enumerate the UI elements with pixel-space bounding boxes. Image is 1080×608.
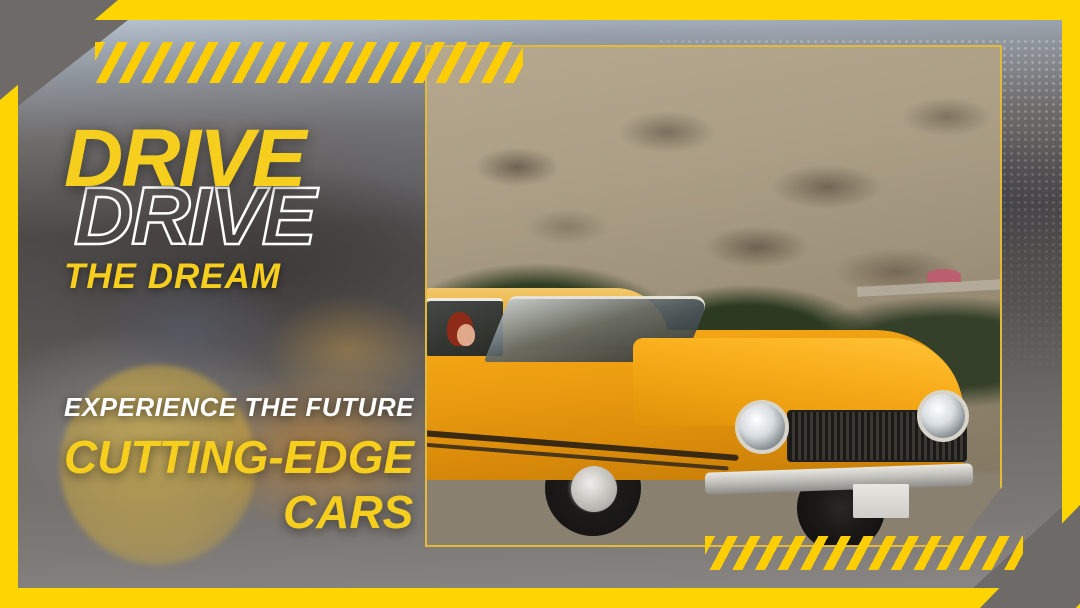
rear-wheel-rim (571, 466, 617, 512)
headline-block: DRIVE DRIVE (64, 118, 424, 248)
headlight-right (917, 390, 969, 442)
headlight-left (735, 400, 789, 454)
promo-banner: DRIVE DRIVE THE DREAM EXPERIENCE THE FUT… (0, 0, 1080, 608)
hero-photo (425, 45, 1002, 547)
driver-face (457, 324, 475, 346)
photo-scenery (427, 47, 1000, 545)
license-plate (853, 484, 909, 518)
roadside-tent (927, 269, 961, 282)
subheadline-text: THE DREAM (64, 258, 281, 296)
headline-text: DRIVE (64, 118, 305, 200)
kicker-text: EXPERIENCE THE FUTURE (64, 392, 414, 422)
classic-car (425, 292, 985, 522)
cta-line-2: CARS (283, 487, 413, 537)
corner-diagonal-accent (1070, 506, 1080, 608)
cta-line-1: CUTTING-EDGE (64, 432, 414, 482)
